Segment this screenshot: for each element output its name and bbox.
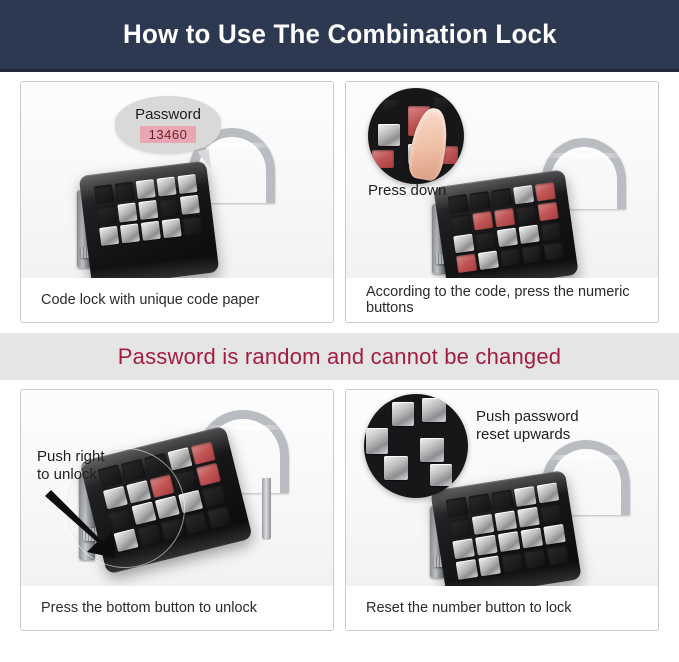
key [366,428,388,454]
key[interactable] [495,510,518,531]
panel-3-caption: Press the bottom button to unlock [21,586,333,630]
panel-row-top: Password 13460 Code lock with unique cod… [0,72,679,323]
panel-1-caption: Code lock with unique code paper [21,278,333,322]
lock-body [433,169,578,280]
key[interactable] [449,518,472,539]
key[interactable] [475,535,498,556]
key[interactable] [141,221,161,241]
reset-buttons-inset [364,394,468,498]
key [422,398,446,422]
key[interactable] [180,195,200,215]
key[interactable] [183,511,208,535]
press-down-inset [368,88,464,184]
panel-code-paper: Password 13460 Code lock with unique cod… [20,81,334,323]
key [420,438,444,462]
key[interactable] [94,184,114,204]
key[interactable] [498,531,521,552]
password-callout-bubble: Password 13460 [115,96,221,154]
key[interactable] [478,250,499,269]
key[interactable] [543,524,566,545]
panel-reset-to-lock: Push password reset upwards Reset the nu… [345,389,659,631]
panel-push-right-unlock: Push right to unlock Press the bottom bu… [20,389,334,631]
panel-press-buttons: Press down According to the code, press … [345,81,659,323]
key [382,98,400,110]
reset-upwards-note: Push password reset upwards [476,408,579,445]
key[interactable] [514,486,537,507]
panel-1-illustration: Password 13460 [21,82,333,280]
key[interactable] [537,482,560,503]
press-down-note: Press down [368,182,446,200]
keypad [446,482,569,580]
lock-body [430,470,582,588]
key[interactable] [540,222,561,241]
shackle-right-leg [262,478,271,540]
key[interactable] [162,218,182,238]
key[interactable] [472,514,495,535]
key[interactable] [519,225,540,244]
key [392,402,414,426]
key[interactable] [450,214,471,233]
key[interactable] [491,490,514,511]
key[interactable] [513,185,534,204]
key[interactable] [521,528,544,549]
key-pressed[interactable] [191,441,216,465]
key[interactable] [207,505,232,529]
key[interactable] [478,555,501,576]
panel-4-caption: Reset the number button to lock [346,586,658,630]
key[interactable] [547,545,570,566]
key[interactable] [491,188,512,207]
key-pressed[interactable] [196,463,221,487]
key-pressed[interactable] [472,211,493,230]
key [430,464,452,486]
key[interactable] [516,205,537,224]
key [378,124,400,146]
key[interactable] [524,548,547,569]
key [434,96,454,108]
page-header: How to Use The Combination Lock [0,0,679,72]
key[interactable] [517,507,540,528]
key[interactable] [159,197,179,217]
key[interactable] [138,200,158,220]
push-right-note: Push right to unlock [37,448,105,485]
key[interactable] [500,247,521,266]
panel-3-illustration: Push right to unlock [21,390,333,588]
key[interactable] [120,223,140,243]
key[interactable] [501,552,524,573]
key[interactable] [167,447,192,471]
panel-2-illustration: Press down [346,82,658,280]
key[interactable] [452,538,475,559]
key[interactable] [521,244,542,263]
warning-banner-text: Password is random and cannot be changed [118,344,561,370]
password-code: 13460 [140,126,197,143]
keypad [448,182,565,273]
key[interactable] [453,234,474,253]
key[interactable] [157,177,177,197]
panel-4-illustration: Push password reset upwards [346,390,658,588]
key[interactable] [540,503,563,524]
key[interactable] [117,203,137,223]
key[interactable] [97,205,117,225]
page-title: How to Use The Combination Lock [123,19,557,50]
key-pressed[interactable] [535,182,556,201]
key-pressed[interactable] [494,208,515,227]
key[interactable] [446,497,469,518]
panel-row-bottom: Push right to unlock Press the bottom bu… [0,380,679,631]
down-right-arrow-icon [45,486,127,560]
key[interactable] [469,191,490,210]
panel-2-caption: According to the code, press the numeric… [346,278,658,322]
lock-body [79,161,220,280]
key[interactable] [115,182,135,202]
key[interactable] [468,493,491,514]
key[interactable] [475,231,496,250]
key[interactable] [136,179,156,199]
key-pressed[interactable] [456,254,477,273]
key[interactable] [456,559,479,580]
key[interactable] [183,216,203,236]
key [370,400,386,416]
key-pressed [372,150,394,168]
keypad [94,174,203,246]
warning-banner: Password is random and cannot be changed [0,333,679,380]
key[interactable] [201,484,226,508]
key[interactable] [448,194,469,213]
password-label: Password [135,107,201,124]
key[interactable] [543,241,564,260]
key[interactable] [99,226,119,246]
key[interactable] [497,228,518,247]
key-pressed[interactable] [538,202,559,221]
infographic-page: How to Use The Combination Lock [0,0,679,662]
key[interactable] [177,174,197,194]
key [384,456,408,480]
